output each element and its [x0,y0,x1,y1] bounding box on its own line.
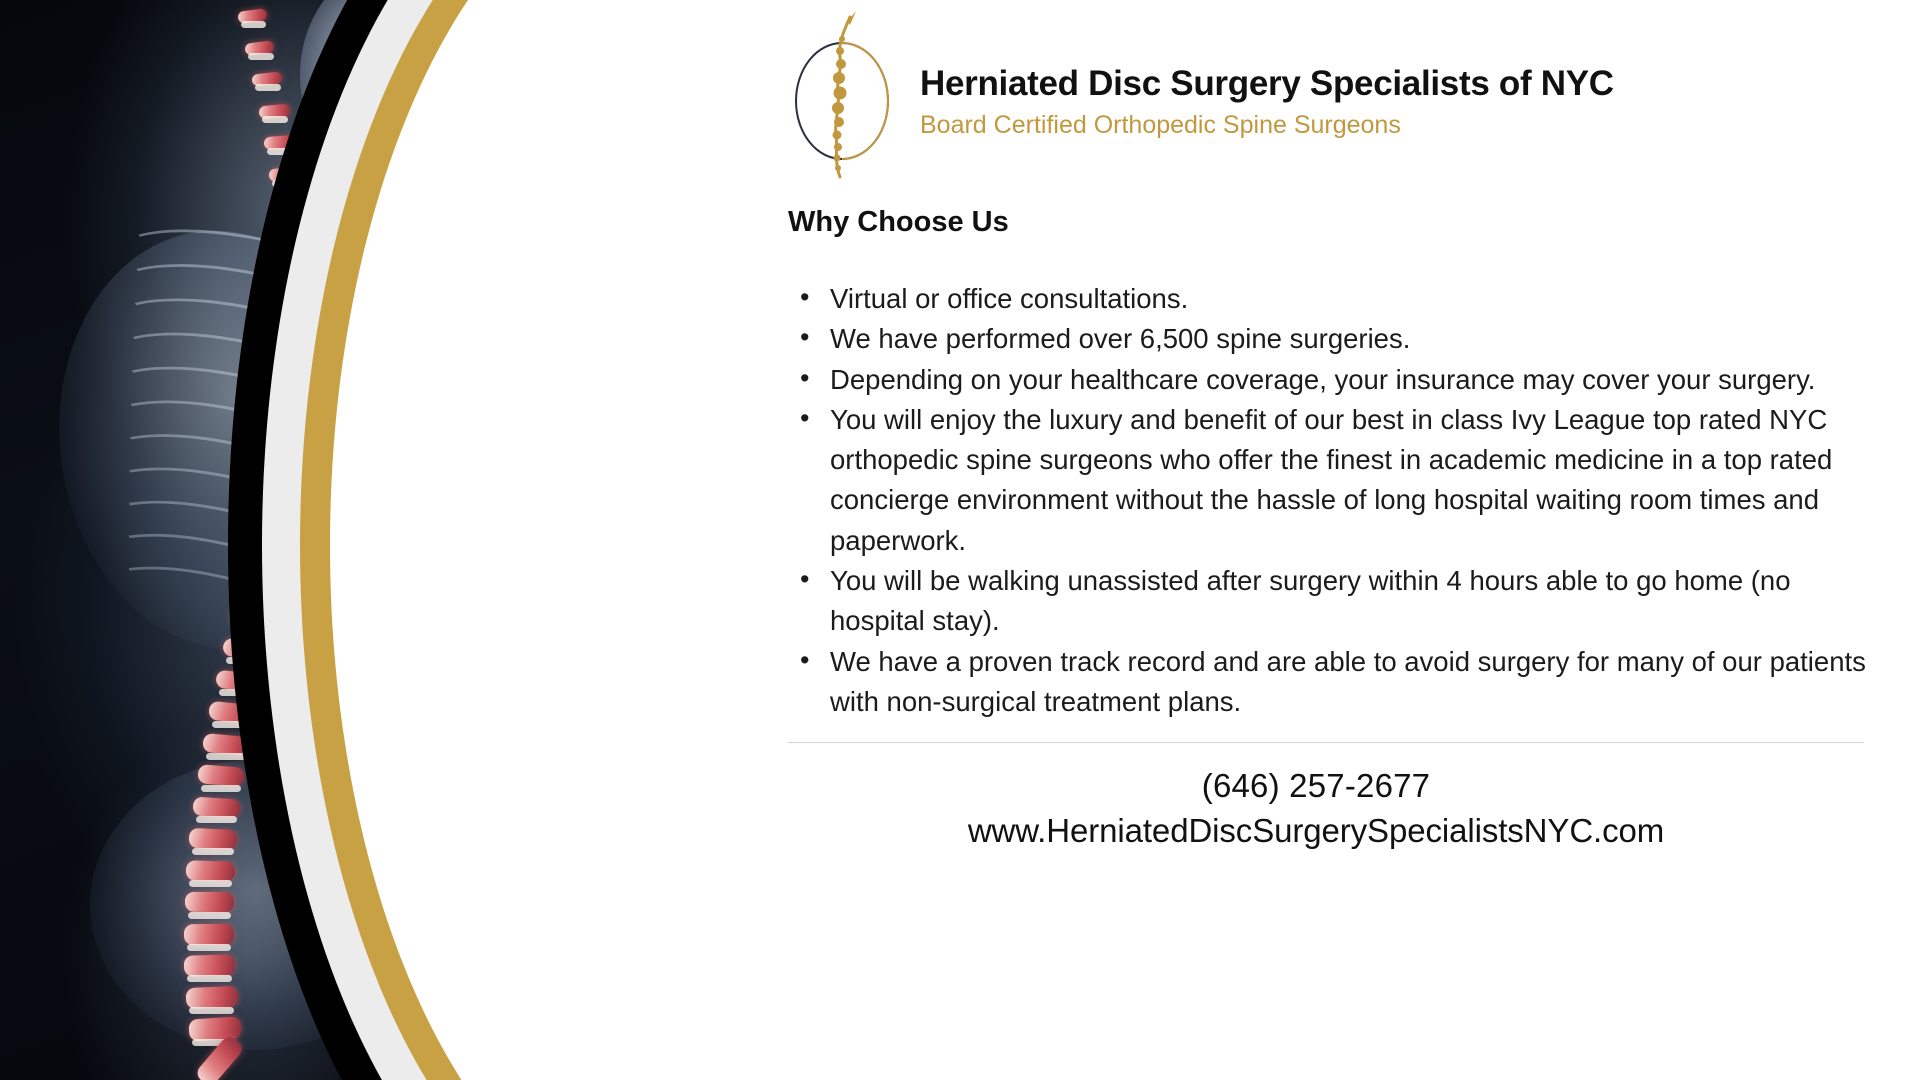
vertebra [185,892,235,913]
footer-divider [788,742,1864,743]
benefit-item: We have a proven track record and are ab… [798,642,1874,723]
intervertebral-disc [206,753,246,760]
contact-block: (646) 257-2677 www.HerniatedDiscSurgeryS… [778,765,1874,853]
intervertebral-disc [187,975,231,982]
phone-number[interactable]: (646) 257-2677 [778,765,1854,806]
brand-header: Herniated Disc Surgery Specialists of NY… [778,0,1874,180]
company-tagline: Board Certified Orthopedic Spine Surgeon… [920,110,1874,140]
vertebra [197,765,245,788]
intervertebral-disc [248,53,273,60]
benefit-item: Virtual or office consultations. [798,279,1874,319]
benefits-list: Virtual or office consultations.We have … [778,279,1874,722]
panel-edge-mask [690,0,760,1080]
vertebra [186,986,239,1010]
intervertebral-disc [192,848,234,855]
intervertebral-disc [187,944,231,951]
website-url[interactable]: www.HerniatedDiscSurgerySpecialistsNYC.c… [778,810,1854,853]
intervertebral-disc [262,116,289,123]
intervertebral-disc [188,912,231,919]
benefit-item: Depending on your healthcare coverage, y… [798,360,1874,400]
intervertebral-disc [189,1007,234,1014]
benefit-item: You will enjoy the luxury and benefit of… [798,400,1874,561]
vertebra [186,860,235,882]
company-name: Herniated Disc Surgery Specialists of NY… [920,64,1874,103]
benefit-item: We have performed over 6,500 spine surge… [798,319,1874,359]
vertebra [184,924,234,945]
spine-in-circle-logo-icon [778,9,906,185]
section-title: Why Choose Us [778,206,1874,239]
spine-image-panel [0,0,760,1080]
content-panel: Herniated Disc Surgery Specialists of NY… [760,0,1920,1080]
vertebra [189,828,238,850]
brand-text: Herniated Disc Surgery Specialists of NY… [920,54,1874,140]
benefit-item: You will be walking unassisted after sur… [798,561,1874,642]
intervertebral-disc [241,21,266,28]
intervertebral-disc [189,880,231,887]
vertebra [184,955,235,977]
intervertebral-disc [196,816,237,823]
intervertebral-disc [255,84,281,91]
intervertebral-disc [201,785,241,792]
